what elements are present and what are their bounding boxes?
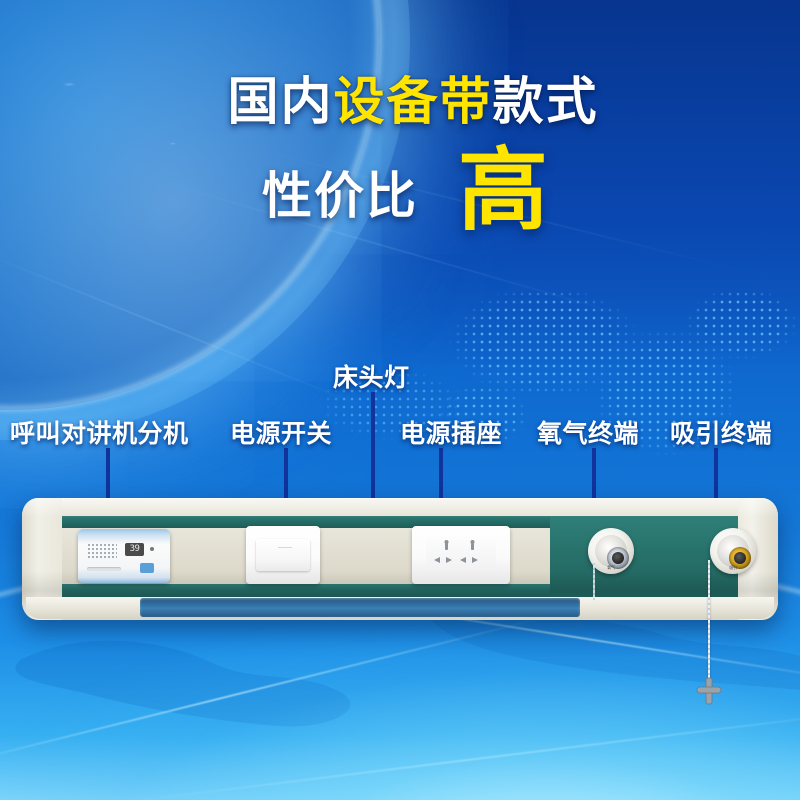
suction-terminal-outlet[interactable]: 吸引 (710, 528, 756, 574)
suction-terminal-text: 吸引 (710, 565, 756, 571)
callout-label-intercom: 呼叫对讲机分机 (10, 414, 189, 450)
callout-label-power-socket: 电源插座 (400, 414, 502, 450)
intercom-vent-slot (87, 567, 121, 571)
panel-body: 39 (22, 498, 778, 620)
bed-head-unit-panel: 39 (22, 498, 778, 620)
oxygen-terminal-ring (595, 535, 627, 567)
rocker-switch-paddle[interactable] (256, 539, 310, 571)
socket-pin-holes-icon (426, 536, 496, 572)
callout-label-group: 呼叫对讲机分机 电源开关 床头灯 电源插座 氧气终端 吸引终端 (0, 0, 800, 800)
callout-label-power-switch: 电源开关 (230, 414, 332, 450)
oxygen-terminal-port (612, 552, 624, 564)
intercom-indicator-led (150, 547, 154, 551)
nurse-call-pull-cord[interactable] (708, 560, 710, 682)
callout-label-bed-lamp: 床头灯 (333, 358, 410, 394)
rocker-switch-mark (278, 547, 292, 548)
power-switch-unit[interactable] (246, 526, 320, 584)
speaker-grille-icon (87, 543, 117, 559)
intercom-display: 39 (125, 543, 144, 556)
suction-terminal-port (734, 552, 746, 564)
promo-image-canvas: 国内设备带款式 性价比 高 呼叫对讲机分机 电源开关 床头灯 电源插座 氧气终端 (0, 0, 800, 800)
power-socket-unit[interactable] (412, 526, 510, 584)
callout-label-oxygen: 氧气终端 (537, 414, 639, 450)
bed-lamp-led-strip[interactable] (140, 598, 580, 617)
callout-label-suction: 吸引终端 (670, 414, 772, 450)
suction-terminal-ring (717, 535, 749, 567)
pull-cord-weight-icon[interactable] (694, 676, 724, 706)
nurse-call-intercom-unit[interactable]: 39 (78, 529, 170, 583)
intercom-call-button[interactable] (140, 563, 154, 573)
socket-face (426, 536, 496, 572)
oxygen-cord (593, 560, 595, 602)
